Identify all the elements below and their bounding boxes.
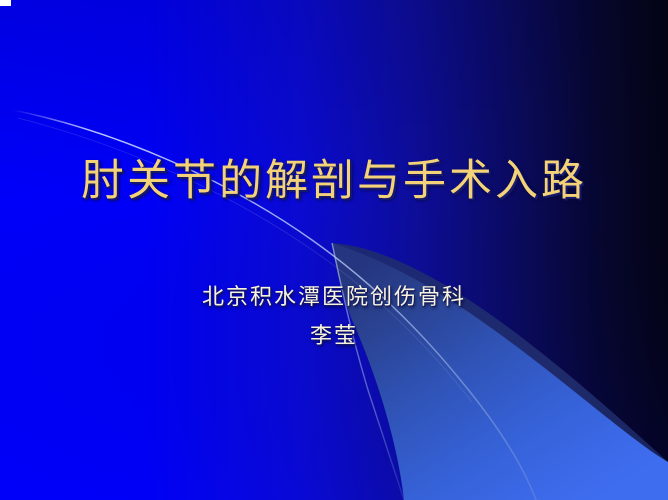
corner-marker xyxy=(0,0,11,6)
slide-text-layer: 肘关节的解剖与手术入路 北京积水潭医院创伤骨科 李莹 xyxy=(0,0,668,500)
slide-subtitle-author: 李莹 xyxy=(0,322,668,352)
slide-subtitle-organization: 北京积水潭医院创伤骨科 xyxy=(0,283,668,313)
presentation-slide: 肘关节的解剖与手术入路 北京积水潭医院创伤骨科 李莹 xyxy=(0,0,668,500)
slide-title: 肘关节的解剖与手术入路 xyxy=(0,153,668,209)
